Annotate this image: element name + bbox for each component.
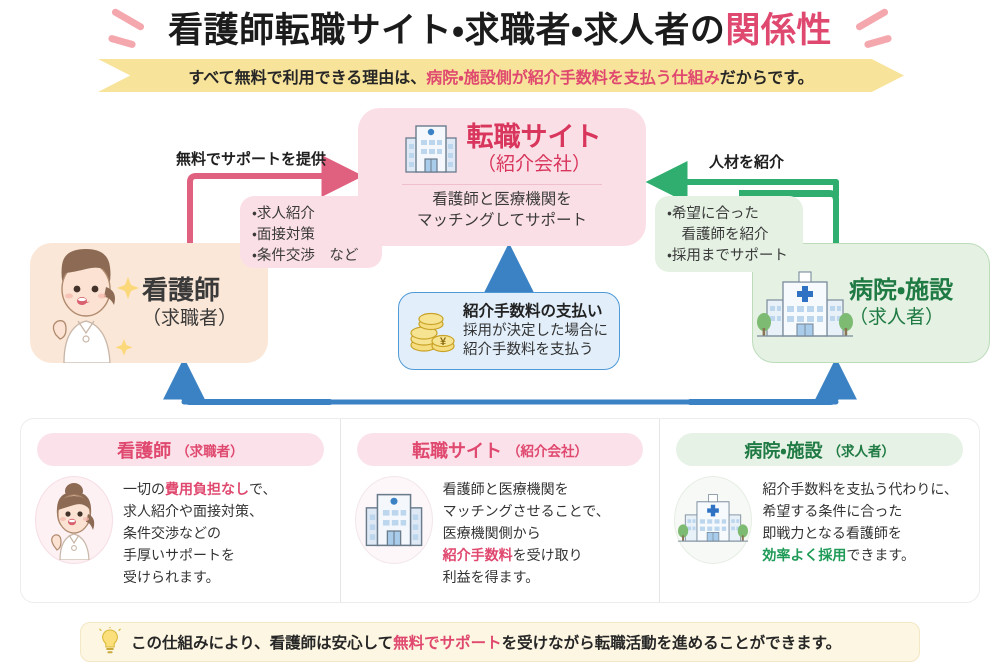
- card-hospital-title: 病院・施設: [744, 437, 822, 463]
- fee-box-title: 紹介手数料の支払い: [463, 302, 608, 322]
- card-nurse-line: 求人紹介や面接対策、: [123, 500, 276, 522]
- footer-before: この仕組みにより、看護師は安心して: [131, 635, 393, 652]
- node-hospital-text: 病院・施設 （求人者）: [849, 277, 953, 328]
- text-segment: で、: [249, 481, 276, 497]
- card-hospital-header: 病院・施設 （求人者）: [676, 433, 963, 466]
- fee-payment-box: ¥ 紹介手数料の支払い 採用が決定した場合に 紹介手数料を支払う: [398, 292, 620, 370]
- card-nurse-title: 看護師: [117, 437, 171, 463]
- office-building-icon: [403, 120, 459, 178]
- text-segment: できます。: [846, 547, 915, 563]
- card-agency-line: 利益を得ます。: [443, 566, 610, 588]
- card-agency-line: 紹介手数料を受け取り: [443, 544, 610, 566]
- coins-yen-icon: ¥: [407, 305, 457, 357]
- node-nurse-text: 看護師 （求職者）: [142, 276, 237, 330]
- summary-cards: 看護師 （求職者）: [20, 418, 980, 603]
- text-segment: 一切の: [123, 481, 165, 497]
- bubble-left-line2: ・面接対策: [252, 225, 370, 246]
- card-agency-title: 転職サイト: [412, 437, 502, 463]
- hospital-building-icon: [757, 266, 853, 348]
- text-segment: 紹介手数料: [443, 547, 513, 563]
- card-nurse-line: 条件交渉などの: [123, 522, 276, 544]
- node-hospital-subtitle: （求人者）: [849, 307, 953, 329]
- card-agency-header: 転職サイト （紹介会社）: [357, 433, 644, 466]
- page-title-area: 看護師転職サイト・求職者・求人者の関係性: [0, 4, 1000, 56]
- node-nurse-title: 看護師: [142, 276, 237, 306]
- page-title: 看護師転職サイト・求職者・求人者の関係性: [168, 13, 832, 48]
- text-segment: 費用負担なし: [165, 481, 249, 497]
- node-agency-description: 看護師と医療機関を マッチングしてサポート: [368, 190, 636, 232]
- svg-text:¥: ¥: [440, 336, 447, 348]
- card-hospital-subtitle: （求人者）: [827, 440, 895, 460]
- hospital-building-icon: [678, 488, 748, 552]
- node-nurse: 看護師 （求職者）: [30, 243, 268, 363]
- node-agency-desc-line2: マッチングしてサポート: [368, 211, 636, 232]
- arrow-helper: [660, 184, 836, 193]
- text-segment: 条件交渉などの: [123, 525, 221, 541]
- bubble-right-line2: 看護師を紹介: [667, 225, 791, 246]
- text-segment: 希望する条件に合った: [762, 503, 902, 519]
- text-segment: 看護師と医療機関を: [443, 481, 569, 497]
- ribbon-after: だからです。: [720, 70, 814, 87]
- arrow-label-nurse-to-agency: 無料でサポートを提供: [176, 148, 326, 169]
- nurse-portrait-icon: [42, 480, 106, 560]
- node-agency-subtitle: （紹介会社）: [467, 154, 602, 176]
- bubble-right-line3: ・採用までサポート: [667, 246, 791, 267]
- node-agency-title: 転職サイト: [467, 122, 602, 153]
- card-nurse-subtitle: （求職者）: [176, 440, 244, 460]
- card-nurse-illustration: [35, 476, 113, 564]
- card-hospital: 病院・施設 （求人者）: [659, 419, 979, 602]
- card-agency-line: マッチングさせることで、: [443, 500, 610, 522]
- card-nurse-line: 受けられます。: [123, 566, 276, 588]
- node-agency: 転職サイト （紹介会社） 看護師と医療機関を マッチングしてサポート: [358, 108, 646, 246]
- text-segment: 求人紹介や面接対策、: [123, 503, 263, 519]
- card-hospital-line: 即戦力となる看護師を: [762, 522, 958, 544]
- card-nurse-header: 看護師 （求職者）: [37, 433, 324, 466]
- office-building-icon: [363, 488, 425, 552]
- card-agency-line: 医療機関側から: [443, 522, 610, 544]
- card-agency-text: 看護師と医療機関をマッチングさせることで、医療機関側から紹介手数料を受け取り利益…: [443, 476, 610, 589]
- text-segment: 受けられます。: [123, 569, 220, 585]
- text-segment: マッチングさせることで、: [443, 503, 610, 519]
- subtitle-ribbon: すべて無料で利用できる理由は、病院・施設側が紹介手数料を支払う仕組みだからです。: [98, 59, 904, 92]
- fee-box-text: 紹介手数料の支払い 採用が決定した場合に 紹介手数料を支払う: [463, 302, 608, 361]
- lightbulb-icon: [99, 627, 121, 657]
- footer-after: を受けながら転職活動を進めることができます。: [502, 635, 841, 652]
- ribbon-accent: 病院・施設側が紹介手数料を支払う仕組み: [426, 70, 719, 87]
- card-agency-body: 看護師と医療機関をマッチングさせることで、医療機関側から紹介手数料を受け取り利益…: [355, 476, 650, 589]
- arrow-fee-to-nurse: [184, 372, 330, 402]
- card-hospital-text: 紹介手数料を支払う代わりに、希望する条件に合った即戦力となる看護師を効率よく採用…: [762, 476, 958, 566]
- text-segment: 効率よく採用: [762, 547, 846, 563]
- bubble-left-line3: ・条件交渉 など: [252, 246, 370, 267]
- text-segment: を受け取り: [513, 547, 583, 563]
- text-segment: 利益を得ます。: [443, 569, 540, 585]
- fee-box-line1: 採用が決定した場合に: [463, 322, 608, 341]
- card-agency-subtitle: （紹介会社）: [507, 440, 588, 460]
- card-agency-line: 看護師と医療機関を: [443, 478, 610, 500]
- card-agency-illustration: [355, 476, 433, 564]
- bubble-right-line1: ・希望に合った: [667, 204, 791, 225]
- footer-text: この仕組みにより、看護師は安心して無料でサポートを受けながら転職活動を進めること…: [131, 631, 841, 653]
- node-agency-divider: [402, 184, 602, 185]
- bubble-agency-services: ・求人紹介 ・面接対策 ・条件交渉 など: [240, 196, 382, 268]
- card-hospital-line: 効率よく採用できます。: [762, 544, 958, 566]
- text-segment: 紹介手数料を支払う代わりに、: [762, 481, 958, 497]
- bubble-left-line1: ・求人紹介: [252, 204, 370, 225]
- page-title-accent: 関係性: [725, 11, 832, 50]
- node-agency-head: 転職サイト （紹介会社）: [368, 120, 636, 178]
- card-hospital-line: 紹介手数料を支払う代わりに、: [762, 478, 958, 500]
- card-hospital-illustration: [674, 476, 752, 564]
- text-segment: 即戦力となる看護師を: [762, 525, 902, 541]
- slash-decoration-left-icon: [106, 6, 150, 54]
- card-hospital-line: 希望する条件に合った: [762, 500, 958, 522]
- nurse-illustration-icon: [32, 243, 144, 363]
- slash-decoration-right-icon: [850, 6, 894, 54]
- text-segment: 医療機関側から: [443, 525, 541, 541]
- bubble-hospital-services: ・希望に合った 看護師を紹介 ・採用までサポート: [655, 196, 803, 272]
- card-nurse-line: 手厚いサポートを: [123, 544, 276, 566]
- card-nurse-body: 一切の費用負担なしで、求人紹介や面接対策、条件交渉などの手厚いサポートを受けられ…: [35, 476, 330, 589]
- card-nurse-line: 一切の費用負担なしで、: [123, 478, 276, 500]
- infographic-root: 看護師転職サイト・求職者・求人者の関係性 すべて無料で利用できる理由は、病院・施…: [0, 0, 1000, 667]
- subtitle-ribbon-text: すべて無料で利用できる理由は、病院・施設側が紹介手数料を支払う仕組みだからです。: [188, 64, 813, 88]
- arrow-label-hospital-to-agency: 人材を紹介: [709, 151, 784, 172]
- text-segment: 手厚いサポートを: [123, 547, 235, 563]
- card-hospital-body: 紹介手数料を支払う代わりに、希望する条件に合った即戦力となる看護師を効率よく採用…: [674, 476, 969, 566]
- page-title-main: 看護師転職サイト・求職者・求人者の: [168, 11, 725, 50]
- footer-accent: 無料でサポート: [393, 635, 502, 652]
- fee-box-line2: 紹介手数料を支払う: [463, 341, 608, 360]
- ribbon-before: すべて無料で利用できる理由は、: [188, 70, 426, 87]
- node-nurse-subtitle: （求職者）: [142, 308, 237, 330]
- node-agency-titles: 転職サイト （紹介会社）: [467, 122, 602, 176]
- card-agency: 転職サイト （紹介会社）: [340, 419, 660, 602]
- node-hospital-title: 病院・施設: [849, 277, 953, 305]
- footer-banner: この仕組みにより、看護師は安心して無料でサポートを受けながら転職活動を進めること…: [80, 622, 920, 662]
- card-nurse: 看護師 （求職者）: [21, 419, 340, 602]
- card-nurse-text: 一切の費用負担なしで、求人紹介や面接対策、条件交渉などの手厚いサポートを受けられ…: [123, 476, 276, 589]
- arrow-fee-to-hospital: [690, 372, 836, 402]
- node-agency-desc-line1: 看護師と医療機関を: [368, 190, 636, 211]
